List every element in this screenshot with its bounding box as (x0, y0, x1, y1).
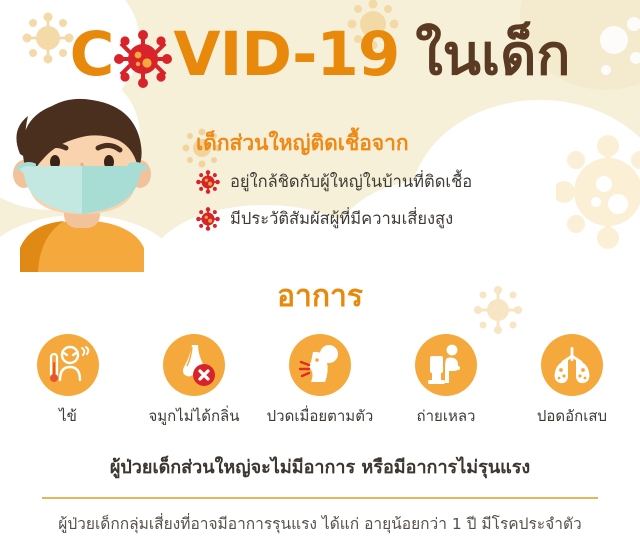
diarrhea-toilet-icon (423, 342, 469, 388)
symptom-label: ปวดเมื่อยตามตัว (267, 407, 374, 425)
fever-thermometer-icon (45, 342, 91, 388)
body-ache-icon (297, 342, 343, 388)
footer-sub-text: ผู้ป่วยเด็กกลุ่มเสี่ยงที่อาจมีอาการรุนแร… (0, 514, 640, 534)
symptoms-heading: อาการ (0, 282, 640, 312)
infographic-poster: C (0, 0, 640, 549)
lungs-pneumonia-icon (549, 342, 595, 388)
infected-from-heading: เด็กส่วนใหญ่ติดเชื้อจาก (196, 130, 616, 156)
symptoms-list: ไข้ จมูกไม่ได้กลิ่น (0, 334, 640, 425)
coronavirus-icon (114, 30, 172, 88)
symptom-label: ไข้ (59, 407, 77, 425)
title-thai-text: ในเด็ก (415, 28, 570, 84)
title-suffix: VID-19 (173, 19, 399, 90)
symptom-item-body-ache: ปวดเมื่อยตามตัว (268, 334, 372, 425)
list-item-label: อยู่ใกล้ชิดกับผู้ใหญ่ในบ้านที่ติดเชื้อ (230, 172, 472, 192)
symptom-item-loss-of-smell: จมูกไม่ได้กลิ่น (142, 334, 246, 425)
symptom-icon-circle (163, 334, 225, 396)
symptom-label: ปอดอักเสบ (537, 407, 607, 425)
symptom-label: จมูกไม่ได้กลิ่น (148, 407, 239, 425)
title-prefix: C (70, 19, 114, 90)
symptom-item-diarrhea: ถ่ายเหลว (394, 334, 498, 425)
symptom-label: ถ่ายเหลว (417, 407, 476, 425)
symptom-icon-circle (37, 334, 99, 396)
symptom-icon-circle (289, 334, 351, 396)
infected-from-section: เด็กส่วนใหญ่ติดเชื้อจาก อยู่ใกล้ชิดกับผู… (196, 130, 616, 244)
poster-title: C (0, 16, 640, 96)
symptom-item-fever: ไข้ (16, 334, 120, 425)
nose-no-smell-icon (171, 342, 217, 388)
list-item-label: มีประวัติสัมผัสผู้ที่มีความเสี่ยงสูง (230, 209, 453, 229)
title-covid-text: C (70, 24, 400, 87)
footer-divider (42, 497, 598, 499)
symptom-icon-circle (541, 334, 603, 396)
coronavirus-bullet-icon (196, 207, 220, 231)
symptom-icon-circle (415, 334, 477, 396)
footer-main-text: ผู้ป่วยเด็กส่วนใหญ่จะไม่มีอาการ หรือมีอา… (0, 457, 640, 480)
list-item: มีประวัติสัมผัสผู้ที่มีความเสี่ยงสูง (196, 207, 616, 231)
list-item: อยู่ใกล้ชิดกับผู้ใหญ่ในบ้านที่ติดเชื้อ (196, 170, 616, 194)
coronavirus-bullet-icon (196, 170, 220, 194)
boy-wearing-mask-illustration (0, 96, 170, 272)
symptom-item-pneumonia: ปอดอักเสบ (520, 334, 624, 425)
